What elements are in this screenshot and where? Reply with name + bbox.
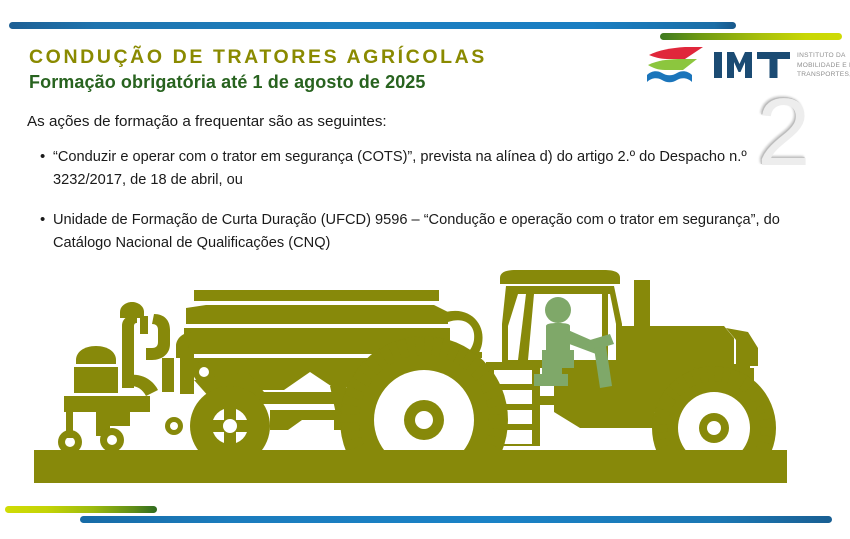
list-item: • “Conduzir e operar com o trator em seg…	[40, 146, 785, 191]
list-item-text: Unidade de Formação de Curta Duração (UF…	[53, 209, 785, 254]
page-title: CONDUÇÃO DE TRATORES AGRÍCOLAS Formação …	[29, 45, 487, 95]
slide-canvas: CONDUÇÃO DE TRATORES AGRÍCOLAS Formação …	[0, 0, 850, 539]
list-item-text: “Conduzir e operar com o trator em segur…	[53, 146, 785, 191]
imt-institution-line-2: MOBILIDADE E DOS	[797, 61, 850, 70]
imt-wordmark-icon	[714, 49, 790, 81]
list-item: • Unidade de Formação de Curta Duração (…	[40, 209, 785, 254]
bullet-dot-icon: •	[40, 146, 53, 168]
ground-bar	[34, 450, 787, 483]
top-green-yellow-rule-decoration	[660, 33, 842, 40]
imt-logo: INSTITUTO DA MOBILIDADE E DOS TRANSPORTE…	[645, 44, 850, 86]
bottom-yellow-green-rule-decoration	[5, 506, 157, 513]
title-line-secondary: Formação obrigatória até 1 de agosto de …	[29, 70, 487, 94]
bullet-dot-icon: •	[40, 209, 53, 231]
bottom-blue-rule-decoration	[80, 516, 832, 523]
imt-logo-mark-icon	[645, 44, 707, 86]
bullet-list: • “Conduzir e operar com o trator em seg…	[40, 146, 785, 254]
imt-institution-text: INSTITUTO DA MOBILIDADE E DOS TRANSPORTE…	[797, 50, 850, 79]
tractor-with-seeder-illustration	[34, 268, 794, 468]
title-line-primary: CONDUÇÃO DE TRATORES AGRÍCOLAS	[29, 45, 487, 69]
top-blue-rule-decoration	[9, 22, 736, 29]
intro-text: As ações de formação a frequentar são as…	[27, 113, 387, 130]
imt-institution-line-1: INSTITUTO DA	[797, 51, 850, 60]
